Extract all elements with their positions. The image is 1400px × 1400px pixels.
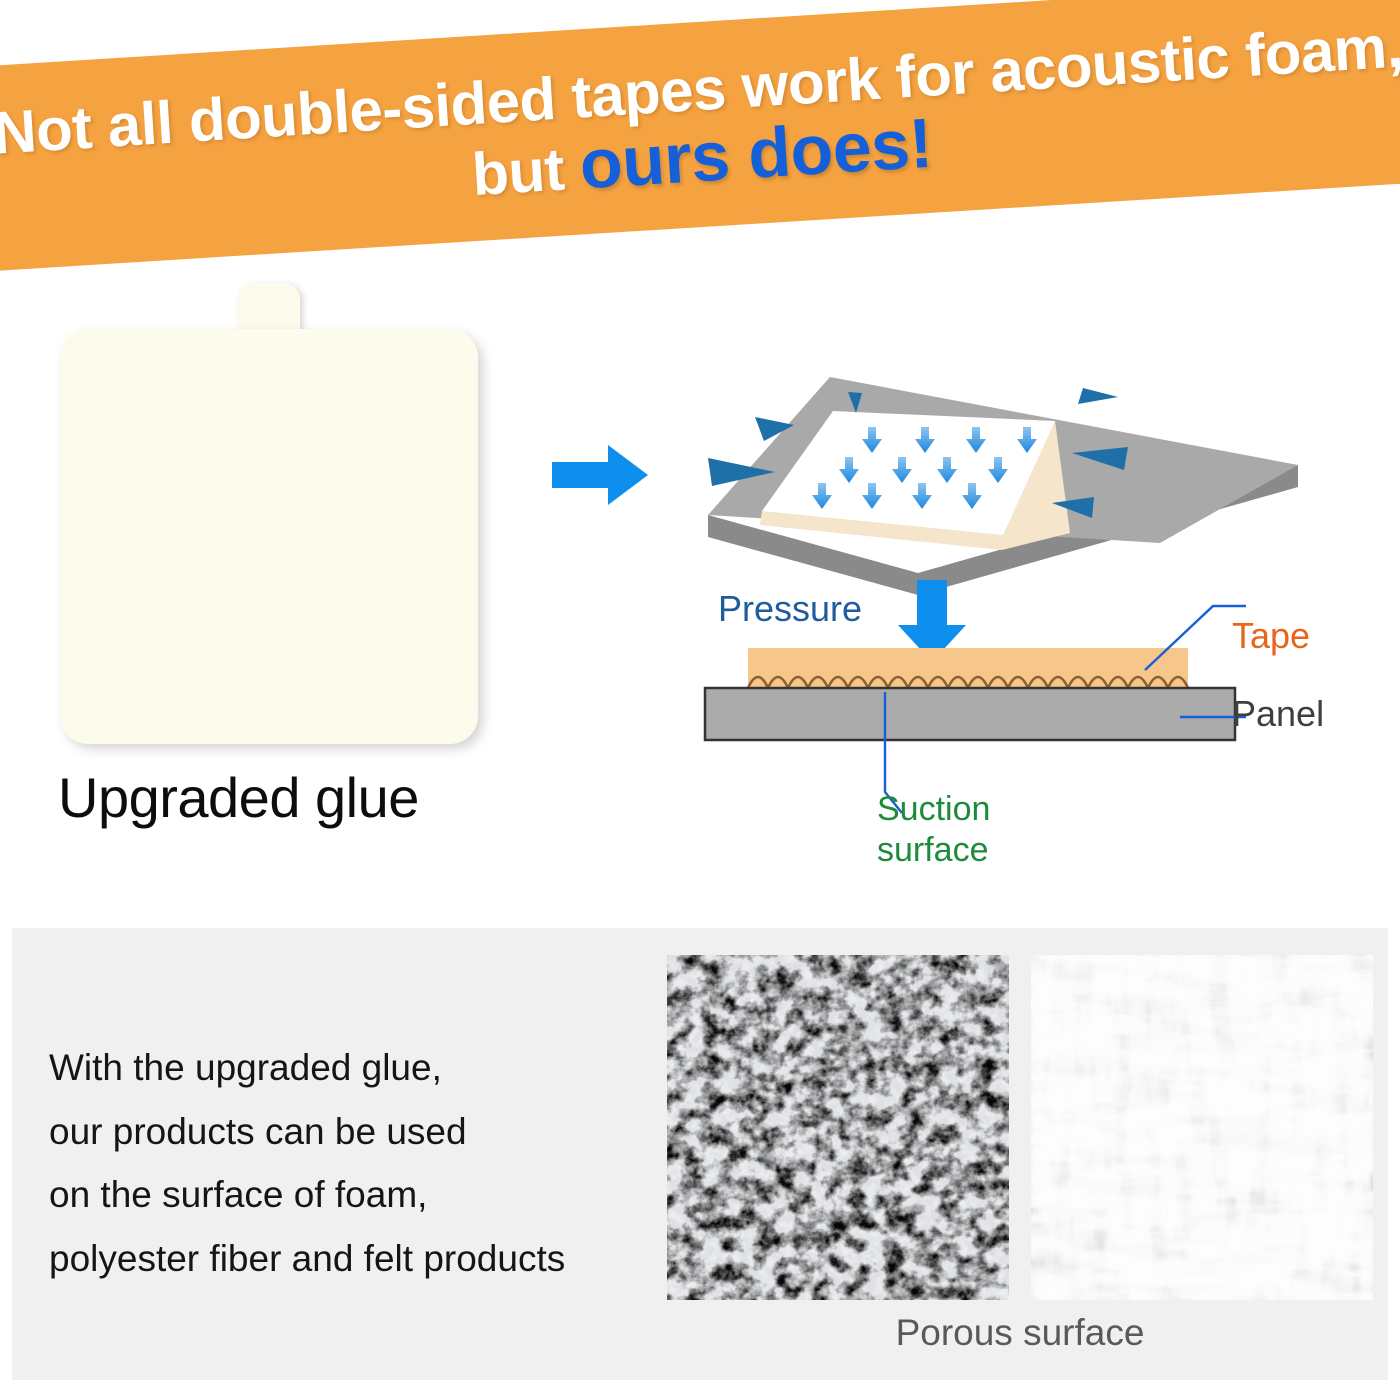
microscope-photos-row [667,955,1373,1300]
right-arrow-icon [552,443,648,507]
suction-surface-label: Suction surface [877,789,990,872]
tape-label: Tape [1232,615,1310,657]
glue-pad-caption: Upgraded glue [58,765,419,830]
glue-pad-body [60,329,478,744]
bottom-info-panel: With the upgraded glue, our products can… [12,928,1388,1380]
header-headline-prefix: but [470,135,582,209]
bottom-copy-line: polyester fiber and felt products [49,1227,669,1291]
bottom-copy-line: on the surface of foam, [49,1163,669,1227]
porous-foam-photo [667,955,1009,1300]
inward-arrow-upright [1078,388,1118,404]
panel-label: Panel [1232,693,1324,735]
bottom-copy-line: our products can be used [49,1100,669,1164]
suction-surface-label-line1: Suction [877,789,990,830]
polyester-fiber-photo [1031,955,1373,1300]
header-banner: Not all double-sided tapes work for acou… [0,0,1400,273]
bottom-copy-block: With the upgraded glue, our products can… [49,1036,669,1291]
glue-pad-illustration [60,283,480,753]
cross-panel-body [705,688,1235,740]
porous-surface-caption: Porous surface [667,1312,1373,1354]
suction-surface-label-line2: surface [877,830,990,871]
header-text-wrap: Not all double-sided tapes work for acou… [0,0,1400,273]
bottom-copy-line: With the upgraded glue, [49,1036,669,1100]
pressure-label: Pressure [718,588,862,630]
